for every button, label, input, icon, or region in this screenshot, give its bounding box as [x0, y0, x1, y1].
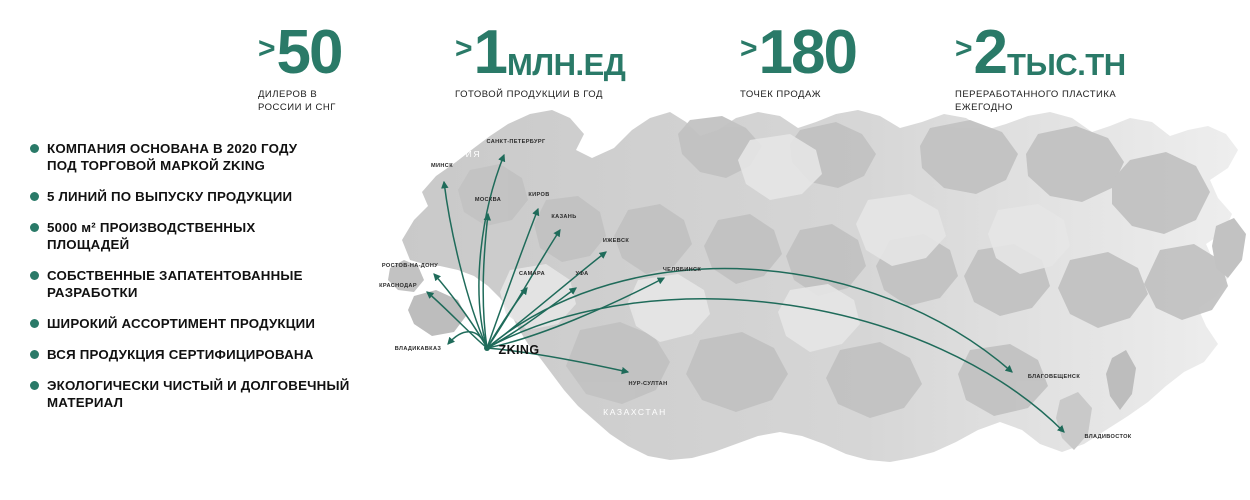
map-city-label: ВЛАДИВОСТОК	[1084, 434, 1131, 440]
map-city-label: ЧЕЛЯБИНСК	[663, 267, 701, 273]
stat-dealers-caption: ДИЛЕРОВ В РОССИИ И СНГ	[258, 89, 343, 115]
stat-dealers-figure: > 50	[258, 22, 343, 84]
stat-dealers: > 50 ДИЛЕРОВ В РОССИИ И СНГ	[258, 22, 343, 115]
map-city-label: САНКТ-ПЕТЕРБУРГ	[487, 139, 546, 145]
stat-dealers-prefix: >	[258, 34, 275, 64]
feature-list-item-label: КОМПАНИЯ ОСНОВАНА В 2020 ГОДУ ПОД ТОРГОВ…	[47, 140, 297, 174]
stat-points: > 180 ТОЧЕК ПРОДАЖ	[740, 22, 857, 102]
bullet-dot-icon	[30, 319, 39, 328]
stat-plastic-figure: > 2 ТЫС.ТН	[955, 22, 1126, 84]
feature-list-item-label: 5 ЛИНИЙ ПО ВЫПУСКУ ПРОДУКЦИИ	[47, 188, 292, 205]
map-city-label: МИНСК	[431, 163, 453, 169]
map-city-label: УФА	[576, 271, 589, 277]
feature-list-item: 5 ЛИНИЙ ПО ВЫПУСКУ ПРОДУКЦИИ	[30, 188, 380, 205]
map-city-label: НУР-СУЛТАН	[629, 381, 668, 387]
stat-points-figure: > 180	[740, 22, 857, 84]
stats-row: > 50 ДИЛЕРОВ В РОССИИ И СНГ > 1 МЛН.ЕД Г…	[0, 0, 1250, 112]
map-landmass	[388, 110, 1246, 462]
infographic-page: САНКТ-ПЕТЕРБУРГМИНСКМОСКВАКИРОВКАЗАНЬИЖЕ…	[0, 0, 1250, 500]
map-city-label: КИРОВ	[528, 192, 549, 198]
feature-list-item-label: ВСЯ ПРОДУКЦИЯ СЕРТИФИЦИРОВАНА	[47, 346, 314, 363]
map-hub-label: ZKING	[499, 343, 540, 357]
feature-list-item-label: СОБСТВЕННЫЕ ЗАПАТЕНТОВАННЫЕ РАЗРАБОТКИ	[47, 267, 303, 301]
feature-list-item: ЭКОЛОГИЧЕСКИ ЧИСТЫЙ И ДОЛГОВЕЧНЫЙ МАТЕРИ…	[30, 377, 380, 411]
bullet-dot-icon	[30, 144, 39, 153]
map-city-label: МОСКВА	[475, 197, 501, 203]
feature-list-item: ШИРОКИЙ АССОРТИМЕНТ ПРОДУКЦИИ	[30, 315, 380, 332]
bullet-dot-icon	[30, 350, 39, 359]
bullet-dot-icon	[30, 381, 39, 390]
feature-list-item-label: ЭКОЛОГИЧЕСКИ ЧИСТЫЙ И ДОЛГОВЕЧНЫЙ МАТЕРИ…	[47, 377, 349, 411]
feature-list-item: СОБСТВЕННЫЕ ЗАПАТЕНТОВАННЫЕ РАЗРАБОТКИ	[30, 267, 380, 301]
map-svg	[370, 100, 1250, 500]
stat-dealers-number: 50	[277, 22, 342, 84]
stat-points-caption: ТОЧЕК ПРОДАЖ	[740, 89, 857, 102]
stat-units-caption: ГОТОВОЙ ПРОДУКЦИИ В ГОД	[455, 89, 625, 102]
stat-units-figure: > 1 МЛН.ЕД	[455, 22, 625, 84]
stat-plastic-prefix: >	[955, 34, 972, 64]
feature-list-item: 5000 м² ПРОИЗВОДСТВЕННЫХ ПЛОЩАДЕЙ	[30, 219, 380, 253]
bullet-dot-icon	[30, 223, 39, 232]
hub-marker	[484, 345, 490, 351]
feature-list-item-label: ШИРОКИЙ АССОРТИМЕНТ ПРОДУКЦИИ	[47, 315, 315, 332]
bullet-dot-icon	[30, 192, 39, 201]
stat-plastic-number: 2	[974, 22, 1006, 84]
stat-plastic: > 2 ТЫС.ТН ПЕРЕРАБОТАННОГО ПЛАСТИКА ЕЖЕГ…	[955, 22, 1126, 115]
map-country-label: БЕЛАРУСИЯ	[415, 149, 481, 159]
feature-list-item: КОМПАНИЯ ОСНОВАНА В 2020 ГОДУ ПОД ТОРГОВ…	[30, 140, 380, 174]
map-city-label: ВЛАДИКАВКАЗ	[395, 346, 441, 352]
stat-plastic-unit: ТЫС.ТН	[1007, 49, 1126, 80]
map-city-label: КРАСНОДАР	[379, 283, 417, 289]
stat-units-unit: МЛН.ЕД	[507, 49, 625, 80]
stat-points-number: 180	[759, 22, 856, 84]
map-city-label: РОСТОВ-НА-ДОНУ	[382, 263, 438, 269]
map-country-label: КАЗАХСТАН	[603, 407, 667, 417]
map-city-label: ИЖЕВСК	[603, 238, 629, 244]
stat-units-number: 1	[474, 22, 506, 84]
stat-units: > 1 МЛН.ЕД ГОТОВОЙ ПРОДУКЦИИ В ГОД	[455, 22, 625, 102]
stat-units-prefix: >	[455, 34, 472, 64]
stat-plastic-caption: ПЕРЕРАБОТАННОГО ПЛАСТИКА ЕЖЕГОДНО	[955, 89, 1126, 115]
distribution-map: САНКТ-ПЕТЕРБУРГМИНСКМОСКВАКИРОВКАЗАНЬИЖЕ…	[370, 100, 1250, 500]
feature-list-item-label: 5000 м² ПРОИЗВОДСТВЕННЫХ ПЛОЩАДЕЙ	[47, 219, 255, 253]
map-city-label: БЛАГОВЕЩЕНСК	[1028, 374, 1080, 380]
map-city-label: КАЗАНЬ	[551, 214, 576, 220]
bullet-dot-icon	[30, 271, 39, 280]
stat-points-prefix: >	[740, 34, 757, 64]
feature-list-item: ВСЯ ПРОДУКЦИЯ СЕРТИФИЦИРОВАНА	[30, 346, 380, 363]
feature-list: КОМПАНИЯ ОСНОВАНА В 2020 ГОДУ ПОД ТОРГОВ…	[30, 140, 380, 425]
map-city-label: САМАРА	[519, 271, 545, 277]
